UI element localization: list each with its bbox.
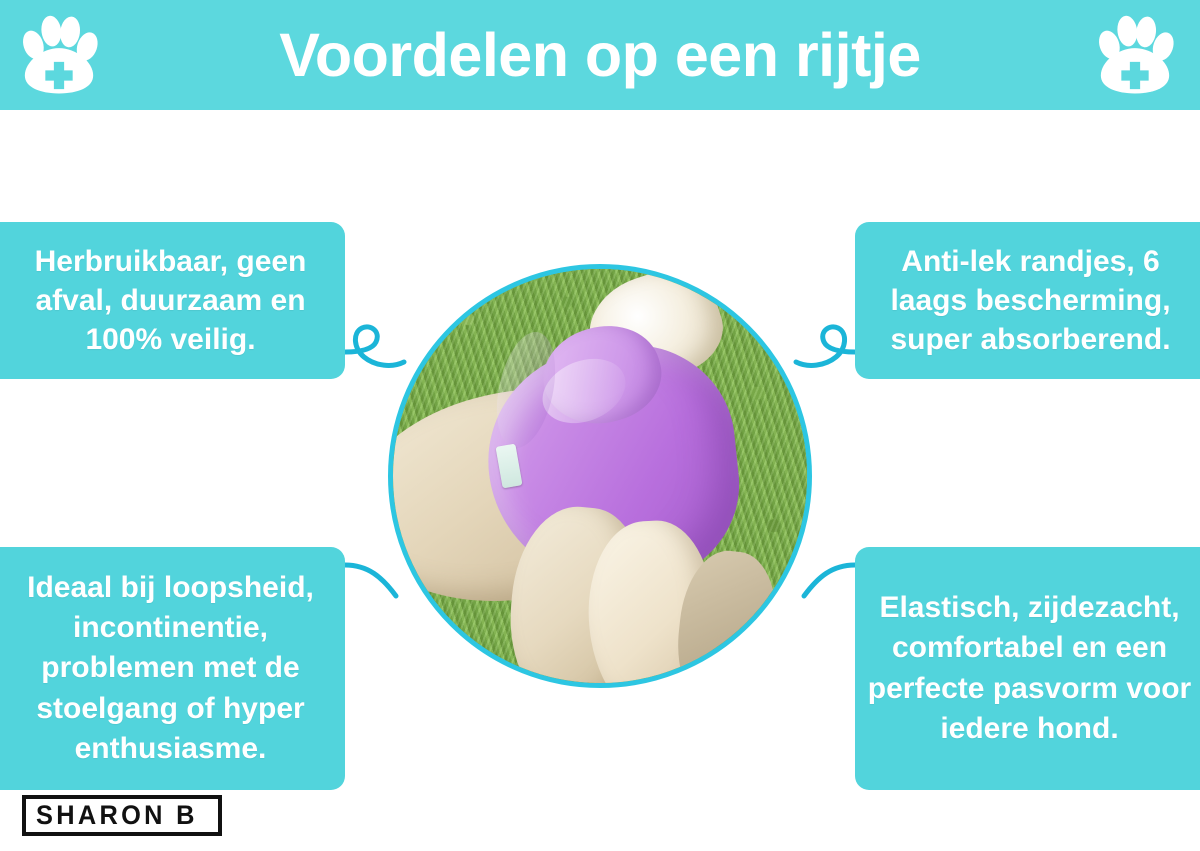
paw-medical-cross-icon	[1092, 14, 1178, 96]
connector-bottom-right	[804, 565, 855, 596]
connector-bottom-left	[345, 565, 396, 596]
brand-logo-text: SHARON B	[36, 801, 198, 829]
benefit-text: Elastisch, zijdezacht, comfortabel en ee…	[867, 588, 1192, 749]
page-title: Voordelen op een rijtje	[279, 25, 921, 86]
header-bar: Voordelen op een rijtje	[0, 0, 1200, 110]
benefit-callout-bottom-right: Elastisch, zijdezacht, comfortabel en ee…	[855, 547, 1200, 790]
benefit-callout-top-left: Herbruikbaar, geen afval, duurzaam en 10…	[0, 222, 345, 379]
benefit-text: Anti-lek randjes, 6 laags bescherming, s…	[869, 242, 1192, 359]
benefit-callout-top-right: Anti-lek randjes, 6 laags bescherming, s…	[855, 222, 1200, 379]
brand-logo: SHARON B	[22, 795, 222, 836]
paw-medical-cross-icon	[16, 14, 102, 96]
benefit-text: Ideaal bij loopsheid, incontinentie, pro…	[8, 568, 333, 769]
infographic-page: Voordelen op een rijtje	[0, 0, 1200, 851]
product-photo-circle	[388, 264, 812, 688]
benefit-callout-bottom-left: Ideaal bij loopsheid, incontinentie, pro…	[0, 547, 345, 790]
product-photo	[393, 269, 807, 683]
benefit-text: Herbruikbaar, geen afval, duurzaam en 10…	[10, 242, 331, 359]
